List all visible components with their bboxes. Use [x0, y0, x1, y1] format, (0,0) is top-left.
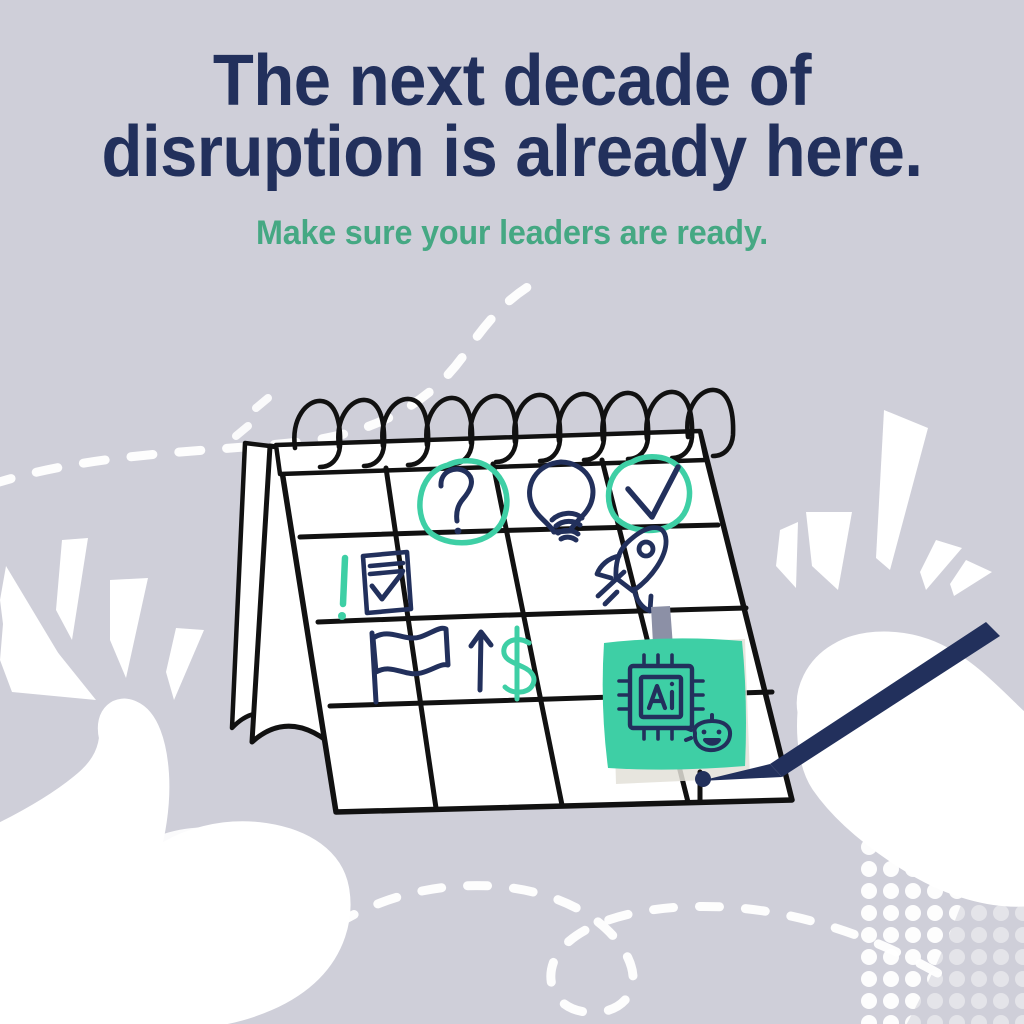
thumbs-up-hand — [0, 706, 344, 1024]
calendar-illustration — [0, 0, 1024, 1024]
sticky-note-body — [603, 638, 746, 769]
poster-canvas: The next decade of disruption is already… — [0, 0, 1024, 1024]
ai-chip-icon — [619, 655, 703, 739]
desk-calendar — [232, 390, 792, 812]
